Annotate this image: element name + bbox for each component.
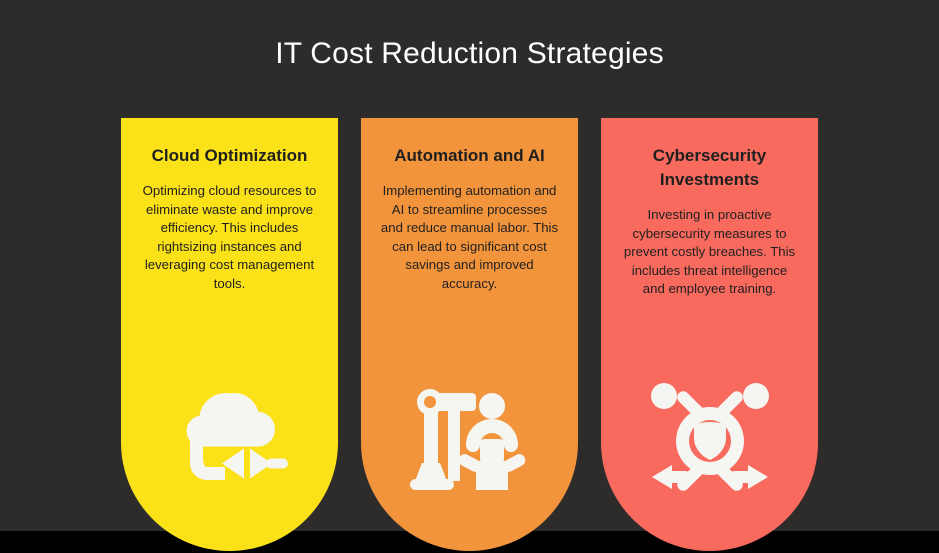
page-title: IT Cost Reduction Strategies — [0, 36, 939, 72]
card-description: Optimizing cloud resources to eliminate … — [140, 182, 320, 294]
strategy-card-cybersecurity-investments[interactable]: Cybersecurity Investments Investing in p… — [601, 118, 818, 551]
robot-arm-worker-icon — [408, 379, 532, 503]
card-description: Implementing automation and AI to stream… — [380, 182, 560, 294]
card-title: Automation and AI — [377, 144, 563, 168]
card-title: Cloud Optimization — [137, 144, 323, 168]
card-description: Investing in proactive cybersecurity mea… — [620, 206, 800, 299]
cloud-optimization-icon — [168, 379, 292, 503]
card-title: Cybersecurity Investments — [617, 144, 803, 192]
shield-network-icon — [648, 379, 772, 503]
slide-canvas: IT Cost Reduction Strategies Cloud Optim… — [0, 0, 939, 553]
strategy-card-automation-and-ai[interactable]: Automation and AI Implementing automatio… — [361, 118, 578, 551]
strategy-card-cloud-optimization[interactable]: Cloud Optimization Optimizing cloud reso… — [121, 118, 338, 551]
